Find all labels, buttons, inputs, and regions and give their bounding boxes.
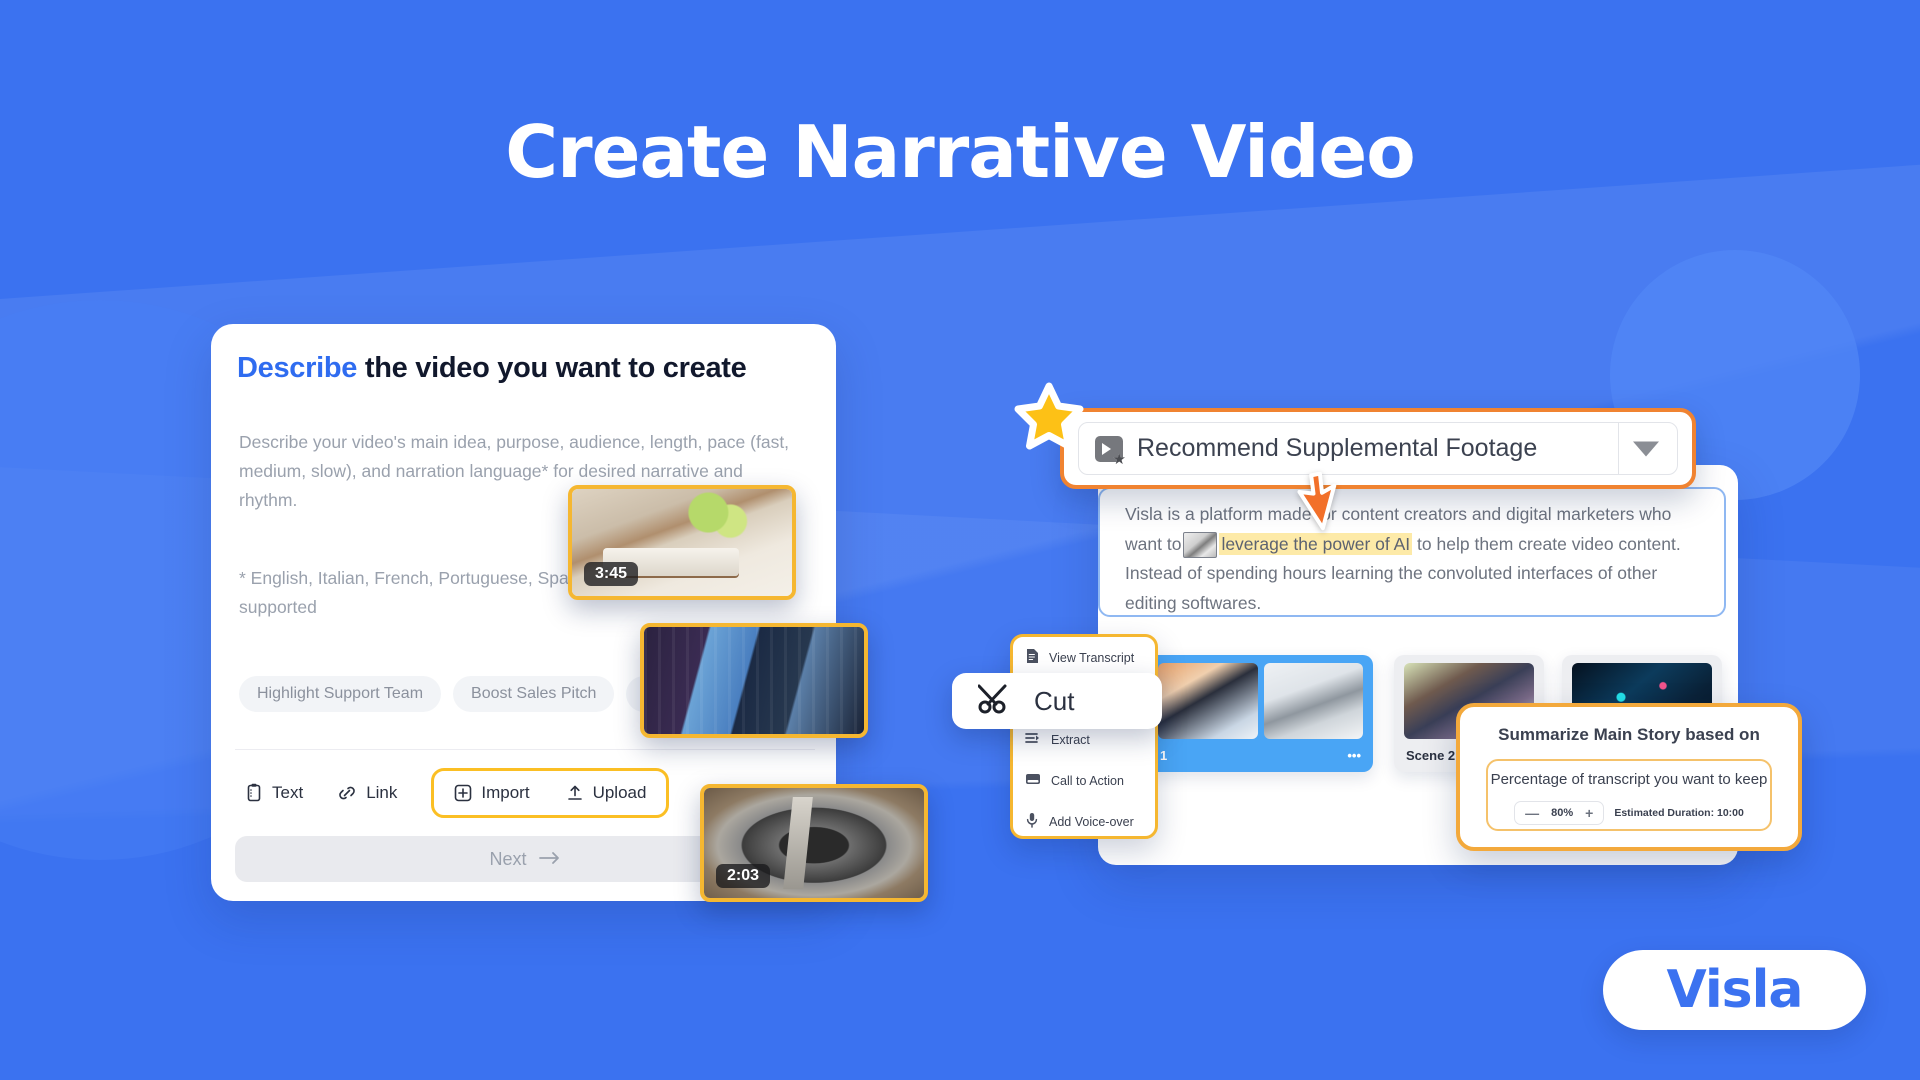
upload-arrow-icon <box>566 784 584 802</box>
text-button[interactable]: Text <box>239 777 309 809</box>
menu-item-label: View Transcript <box>1049 651 1134 665</box>
thumbnail-image <box>644 627 864 734</box>
link-button-label: Link <box>366 783 397 803</box>
percentage-value: 80% <box>1551 807 1573 819</box>
card-heading-rest: the video you want to create <box>357 352 746 384</box>
cut-tooltip[interactable]: Cut <box>952 673 1162 729</box>
chip-highlight-support-team[interactable]: Highlight Support Team <box>239 676 441 712</box>
input-toolbar: Text Link Import Upload <box>239 768 669 818</box>
dropdown-inner[interactable]: Recommend Supplemental Footage <box>1078 422 1678 475</box>
import-upload-group: Import Upload <box>431 768 669 818</box>
next-button-label: Next <box>489 849 526 870</box>
cursor-pointer-icon <box>1294 472 1342 539</box>
footage-star-icon <box>1095 436 1123 462</box>
upload-button-label: Upload <box>593 783 647 803</box>
video-duration-badge: 2:03 <box>716 864 770 888</box>
summarize-title: Summarize Main Story based on <box>1460 725 1798 745</box>
scissors-icon <box>978 683 1012 720</box>
visla-logo-text: Visla <box>1666 960 1802 1020</box>
scene-card-1[interactable]: 1 ••• <box>1148 655 1373 772</box>
microphone-icon <box>1025 812 1039 831</box>
summarize-option-box[interactable]: Percentage of transcript you want to kee… <box>1486 759 1772 831</box>
visla-logo: Visla <box>1603 950 1866 1030</box>
toolbar-divider <box>235 749 815 750</box>
link-icon <box>337 783 357 803</box>
card-heading-highlight: Describe <box>237 352 357 384</box>
recommend-footage-dropdown[interactable]: Recommend Supplemental Footage <box>1060 408 1696 489</box>
cut-tooltip-label: Cut <box>1034 686 1074 717</box>
scene-thumbnail-strip <box>1148 655 1373 739</box>
suggestion-chips: Highlight Support Team Boost Sales Pitch… <box>239 676 697 712</box>
menu-item-add-voice-over[interactable]: Add Voice-over <box>1013 801 1155 842</box>
menu-item-label: Add Voice-over <box>1049 815 1134 829</box>
decrease-button[interactable]: — <box>1525 805 1539 821</box>
video-thumbnail-city[interactable] <box>640 623 868 738</box>
chip-boost-sales-pitch[interactable]: Boost Sales Pitch <box>453 676 614 712</box>
dropdown-label: Recommend Supplemental Footage <box>1137 434 1537 463</box>
clipboard-icon <box>245 783 263 803</box>
page-title: Create Narrative Video <box>0 110 1920 194</box>
plus-square-icon <box>454 784 472 802</box>
video-thumbnail-escalator[interactable]: 2:03 <box>700 784 928 902</box>
menu-item-call-to-action[interactable]: Call to Action <box>1013 760 1155 801</box>
scene-clip-thumbnail <box>1158 663 1258 739</box>
card-heading: Describe the video you want to create <box>237 352 746 385</box>
dropdown-divider <box>1618 423 1620 474</box>
summarize-panel: Summarize Main Story based on Percentage… <box>1456 703 1802 851</box>
estimated-duration-label: Estimated Duration: 10:00 <box>1614 807 1744 819</box>
menu-item-view-transcript[interactable]: View Transcript <box>1013 637 1155 678</box>
summarize-subtitle: Percentage of transcript you want to kee… <box>1488 771 1770 788</box>
import-button[interactable]: Import <box>448 777 535 809</box>
arrow-right-icon <box>539 849 561 870</box>
menu-item-label: Call to Action <box>1051 774 1124 788</box>
clip-context-menu: View Transcript Extract Call to Action A… <box>1010 634 1158 839</box>
star-badge-icon <box>1010 380 1088 463</box>
text-button-label: Text <box>272 783 303 803</box>
scene-caption: 1 ••• <box>1148 739 1373 772</box>
upload-button[interactable]: Upload <box>560 777 653 809</box>
scene-label: Scene 2 <box>1406 748 1455 763</box>
increase-button[interactable]: + <box>1585 805 1593 821</box>
transcript-text: Visla is a platform made for content cre… <box>1125 500 1705 618</box>
link-button[interactable]: Link <box>331 777 403 809</box>
import-button-label: Import <box>481 783 529 803</box>
banner-icon <box>1025 772 1041 789</box>
inline-video-thumbnail[interactable] <box>1183 532 1217 558</box>
summarize-controls: — 80% + Estimated Duration: 10:00 <box>1488 801 1770 825</box>
percentage-stepper[interactable]: — 80% + <box>1514 801 1604 825</box>
document-icon <box>1025 648 1039 667</box>
scene-clip-thumbnail <box>1264 663 1364 739</box>
scene-label: 1 <box>1160 748 1167 763</box>
ellipsis-icon[interactable]: ••• <box>1347 748 1361 763</box>
menu-item-label: Extract <box>1051 733 1090 747</box>
extract-arrow-icon <box>1025 731 1041 748</box>
chevron-down-icon[interactable] <box>1633 441 1659 456</box>
video-thumbnail-typing[interactable]: 3:45 <box>568 485 796 600</box>
video-duration-badge: 3:45 <box>584 562 638 586</box>
